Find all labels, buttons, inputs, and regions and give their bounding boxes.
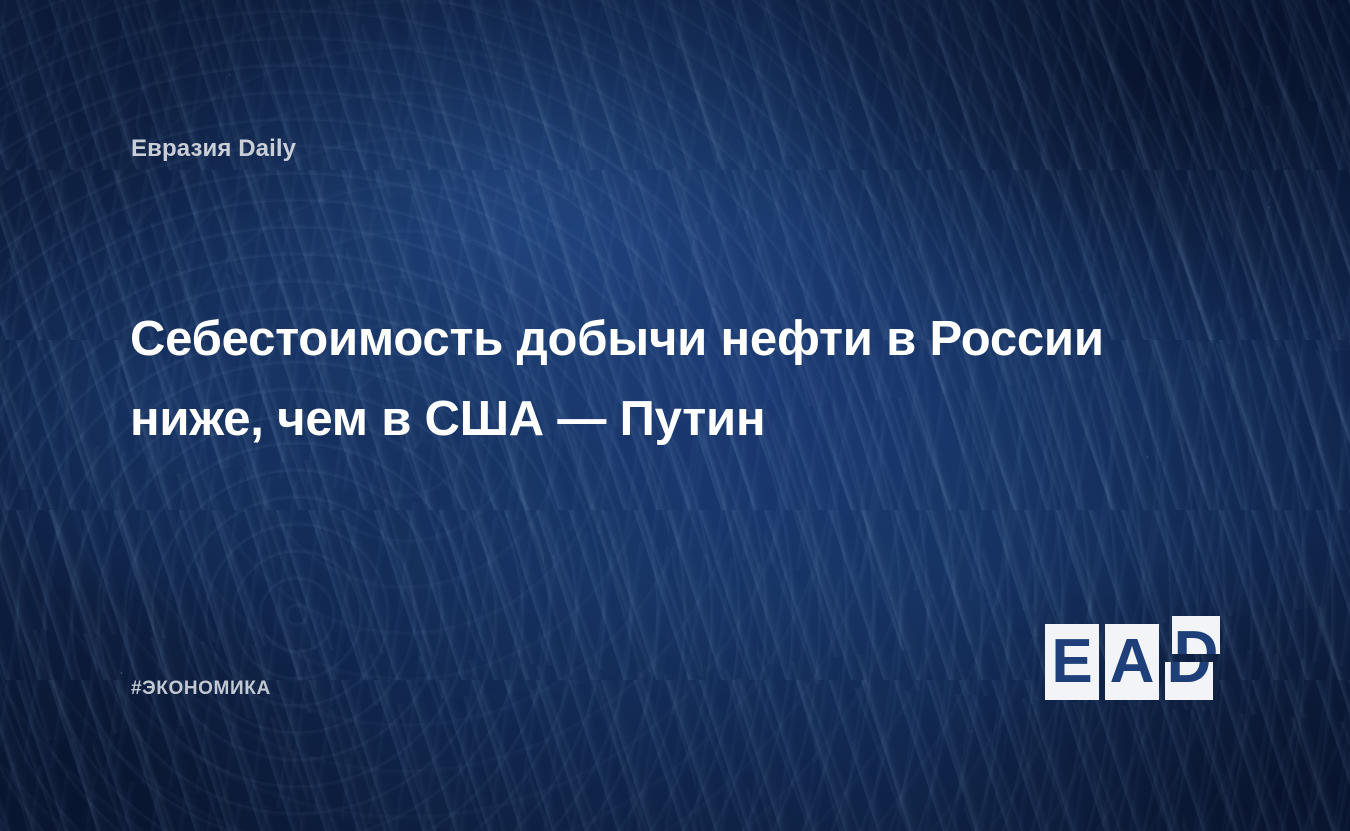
news-card: Евразия Daily Себестоимость добычи нефти… (0, 0, 1350, 831)
logo-letter-e: E (1045, 624, 1099, 700)
headline-line-1: Себестоимость добычи нефти в России (130, 299, 1230, 379)
logo-letter-d-glyph-top: D (1172, 616, 1220, 654)
card-content: Евразия Daily Себестоимость добычи нефти… (0, 0, 1350, 831)
logo-letter-a: A (1105, 624, 1159, 700)
logo-letter-d-top-half: D (1172, 616, 1220, 654)
logo-letter-d-glyph-bottom: D (1165, 662, 1213, 700)
headline-line-2: ниже, чем в США — Путин (130, 379, 1230, 459)
brand-label: Евразия Daily (131, 136, 296, 162)
eadaily-logo[interactable]: E A D D (1045, 624, 1220, 700)
page-title: Себестоимость добычи нефти в России ниже… (130, 299, 1230, 459)
logo-letter-d: D D (1165, 624, 1220, 700)
logo-letter-d-bottom-half: D (1165, 662, 1213, 700)
category-tag[interactable]: #ЭКОНОМИКА (131, 678, 271, 700)
